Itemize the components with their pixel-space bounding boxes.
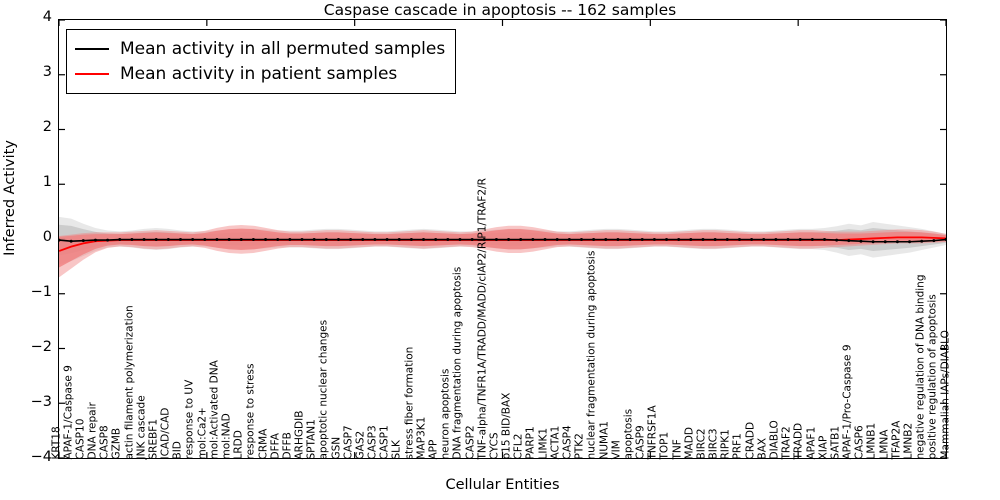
data-point [155,238,158,241]
data-point [70,240,73,243]
data-point [373,238,376,241]
data-point [398,238,401,241]
data-point [301,238,304,241]
data-point [811,238,814,241]
data-point [118,238,121,241]
data-point [252,238,255,241]
data-point [689,238,692,241]
data-point [422,238,425,241]
data-point [641,238,644,241]
data-point [458,238,461,241]
data-point [884,240,887,243]
data-point [872,240,875,243]
data-point [325,238,328,241]
data-point [859,240,862,243]
data-point [762,238,765,241]
data-point [629,238,632,241]
data-point [386,238,389,241]
data-point [264,238,267,241]
data-point [738,238,741,241]
data-point [143,238,146,241]
legend-swatch-line-icon [75,48,109,50]
figure-canvas: Caspase cascade in apoptosis -- 162 samp… [0,0,1000,500]
legend-item[interactable]: Mean activity in all permuted samples [75,36,445,61]
data-point [847,239,850,242]
data-point [604,238,607,241]
data-point [361,238,364,241]
data-point [616,238,619,241]
legend-label: Mean activity in all permuted samples [120,39,445,59]
data-point [191,238,194,241]
data-point [908,240,911,243]
data-point [203,238,206,241]
data-point [544,238,547,241]
data-point [337,238,340,241]
y-tick-label: −4 [6,450,52,465]
data-point [130,238,133,241]
data-point [434,238,437,241]
data-point [507,238,510,241]
data-point [568,238,571,241]
legend-label: Mean activity in patient samples [120,64,397,84]
legend-item[interactable]: Mean activity in patient samples [75,61,445,86]
data-point [799,238,802,241]
data-point [410,238,413,241]
data-point [106,239,109,242]
data-point [677,238,680,241]
data-point [519,238,522,241]
data-point [349,238,352,241]
data-point [495,238,498,241]
data-point [932,239,935,242]
data-point [240,238,243,241]
data-point [556,238,559,241]
y-tick-label: −3 [6,395,52,410]
y-tick-label: 4 [6,10,52,25]
data-point [276,238,279,241]
data-point [750,238,753,241]
data-point [592,238,595,241]
data-point [446,238,449,241]
data-point [531,238,534,241]
data-point [94,239,97,242]
data-point [835,239,838,242]
data-point [471,238,474,241]
data-point [896,240,899,243]
data-point [82,239,85,242]
data-point [665,238,668,241]
data-point [228,238,231,241]
data-point [823,238,826,241]
data-point [714,238,717,241]
data-point [167,238,170,241]
data-point [774,238,777,241]
data-point [288,238,291,241]
data-point [726,238,729,241]
data-point [179,238,182,241]
y-axis-label: Inferred Activity [2,38,18,358]
data-point [580,238,583,241]
legend-swatch-line-icon [75,73,109,75]
page-title: Caspase cascade in apoptosis -- 162 samp… [0,1,1000,19]
legend: Mean activity in all permuted samplesMea… [66,29,456,94]
data-point [313,238,316,241]
data-point [215,238,218,241]
data-point [701,238,704,241]
data-point [787,238,790,241]
data-point [653,238,656,241]
data-point [483,238,486,241]
x-axis-label: Cellular Entities [58,477,947,493]
data-point [920,240,923,243]
